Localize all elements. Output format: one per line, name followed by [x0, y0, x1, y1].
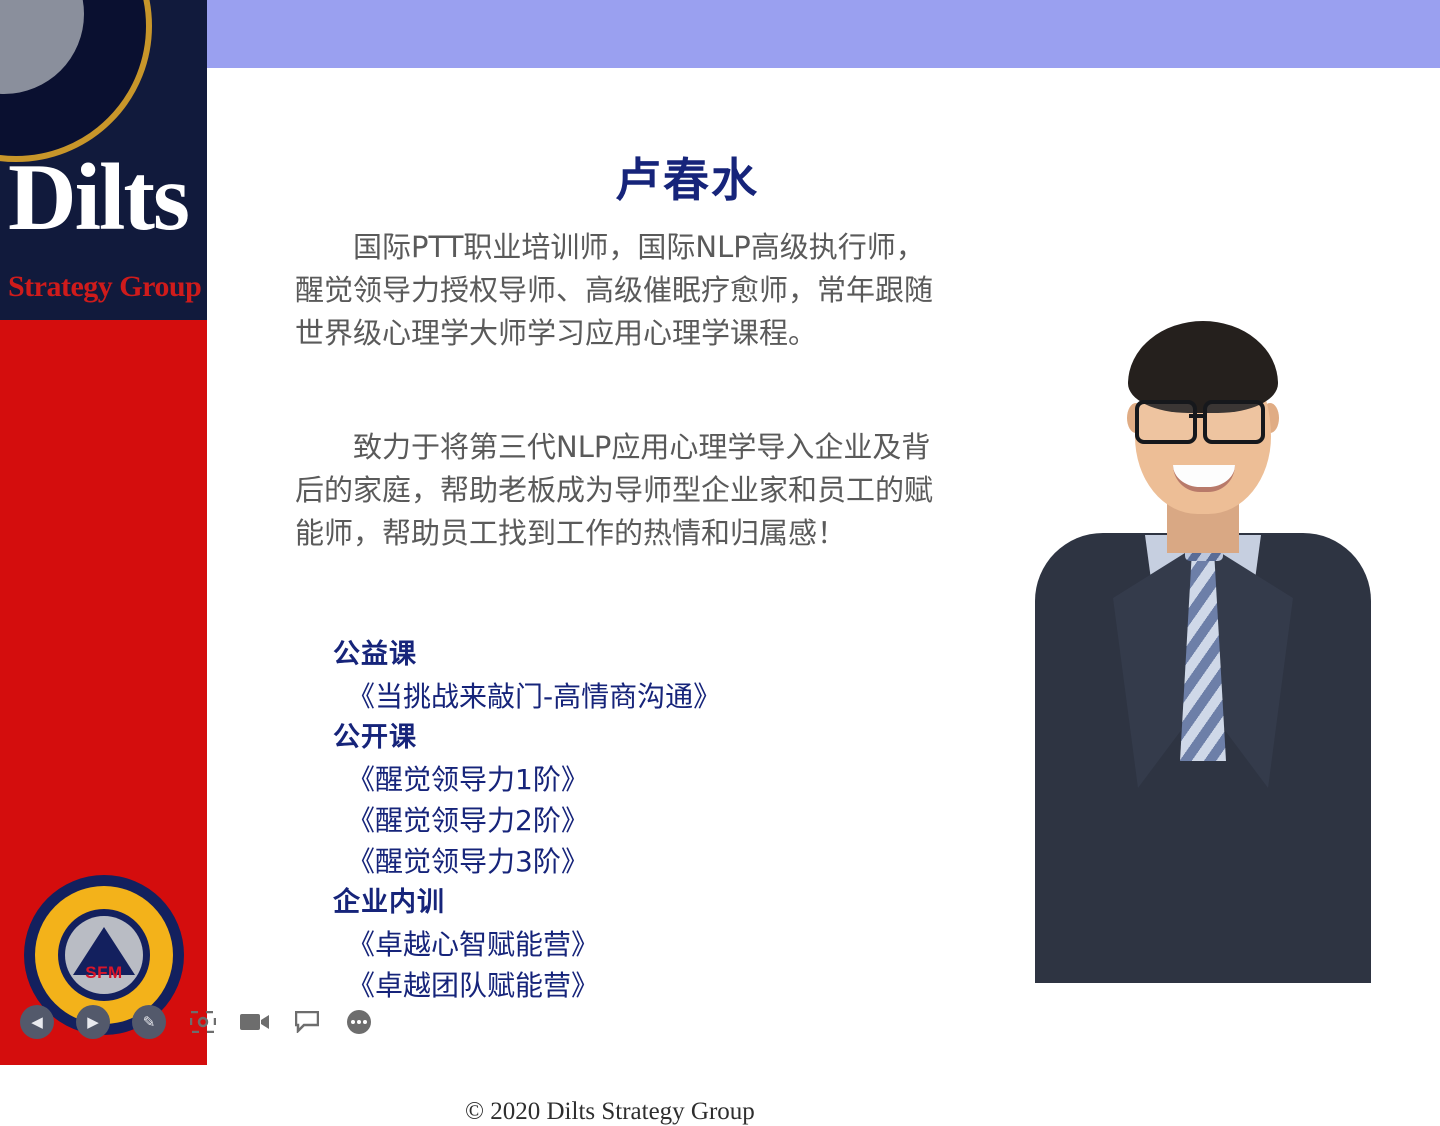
page-title: 卢春水 [207, 144, 1167, 210]
slide-body: 卢春水 国际PTT职业培训师，国际NLP高级执行师，醒觉领导力授权导师、高级催眠… [207, 68, 1440, 1065]
screenshot-icon[interactable] [188, 1009, 218, 1035]
emblem-label: SFM [74, 963, 134, 983]
course-section-heading-1: 公益课 [333, 634, 953, 676]
speaker-portrait [1017, 283, 1387, 983]
brand-wordmark: Dilts [8, 150, 188, 245]
more-icon[interactable] [344, 1009, 374, 1035]
portrait-glasses-left-lens [1135, 400, 1197, 444]
course-section-heading-3: 企业内训 [333, 882, 953, 924]
bio-paragraph-2: 致力于将第三代NLP应用心理学导入企业及背后的家庭，帮助老板成为导师型企业家和员… [295, 426, 945, 555]
previous-button[interactable]: ◀ [20, 1005, 54, 1039]
course-list: 公益课 《当挑战来敲门-高情商沟通》 公开课 《醒觉领导力1阶》 《醒觉领导力2… [333, 634, 953, 1006]
course-item: 《当挑战来敲门-高情商沟通》 [333, 676, 953, 717]
brand-sidebar: Dilts Strategy Group SFM [0, 0, 207, 1065]
bio-paragraph-1: 国际PTT职业培训师，国际NLP高级执行师，醒觉领导力授权导师、高级催眠疗愈师，… [295, 226, 945, 355]
course-item: 《醒觉领导力1阶》 [333, 759, 953, 800]
course-section-heading-2: 公开课 [333, 717, 953, 759]
play-button[interactable]: ▶ [76, 1005, 110, 1039]
video-camera-icon[interactable] [240, 1009, 270, 1035]
logo-block: Dilts Strategy Group [0, 0, 207, 320]
brand-tagline: Strategy Group [8, 272, 201, 302]
course-item: 《醒觉领导力2阶》 [333, 800, 953, 841]
portrait-glasses-bridge [1189, 414, 1207, 418]
chat-icon[interactable] [292, 1009, 322, 1035]
copyright-notice: © 2020 Dilts Strategy Group [465, 1098, 755, 1126]
slide-header-band [207, 0, 1440, 71]
course-item: 《醒觉领导力3阶》 [333, 841, 953, 882]
portrait-glasses-right-lens [1203, 400, 1265, 444]
pen-button[interactable]: ✎ [132, 1005, 166, 1039]
player-toolbar[interactable]: ◀ ▶ ✎ [20, 996, 440, 1048]
course-item: 《卓越心智赋能营》 [333, 924, 953, 965]
